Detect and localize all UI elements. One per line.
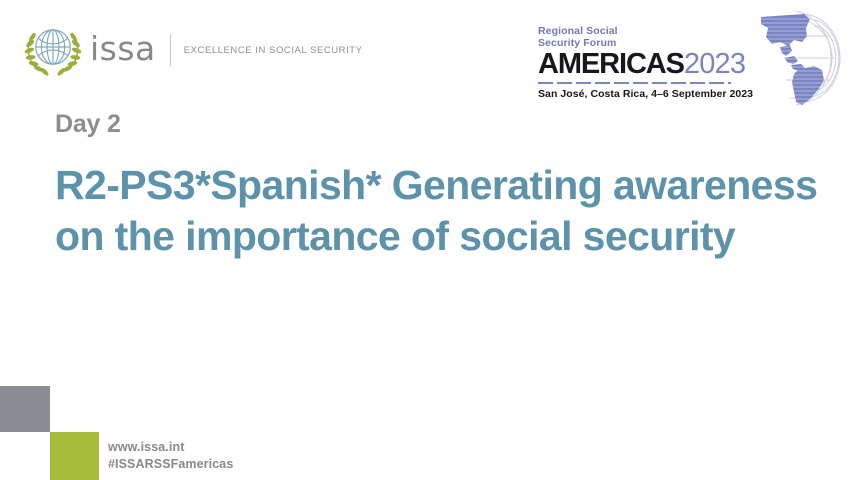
forum-kicker-line1: Regional Social [538, 26, 738, 38]
issa-wordmark: issa [90, 32, 156, 65]
forum-logo: Regional Social Security Forum AMERICAS … [538, 26, 738, 100]
issa-globe-laurel-icon [22, 21, 84, 79]
logo-divider [170, 34, 171, 66]
slide-header: issa EXCELLENCE IN SOCIAL SECURITY Regio… [0, 0, 853, 112]
presentation-slide: issa EXCELLENCE IN SOCIAL SECURITY Regio… [0, 0, 853, 480]
forum-dashed-rule [538, 82, 731, 84]
forum-title-row: AMERICAS 2023 [538, 50, 738, 79]
forum-place-date: San José, Costa Rica, 4–6 September 2023 [538, 88, 738, 100]
footer-website: www.issa.int [108, 439, 233, 456]
day-label: Day 2 [55, 110, 121, 139]
footer-hashtag: #ISSARSSFamericas [108, 456, 233, 473]
forum-title-year: 2023 [684, 50, 745, 79]
issa-tagline: EXCELLENCE IN SOCIAL SECURITY [184, 45, 363, 56]
forum-title-americas: AMERICAS [538, 50, 684, 79]
decorative-gray-square [0, 386, 50, 432]
decorative-green-square [50, 432, 99, 480]
americas-map-globe-icon [744, 6, 844, 110]
issa-logo: issa EXCELLENCE IN SOCIAL SECURITY [22, 18, 363, 82]
page-title: R2-PS3*Spanish* Generating awareness on … [55, 160, 825, 262]
footer-text: www.issa.int #ISSARSSFamericas [108, 439, 233, 473]
